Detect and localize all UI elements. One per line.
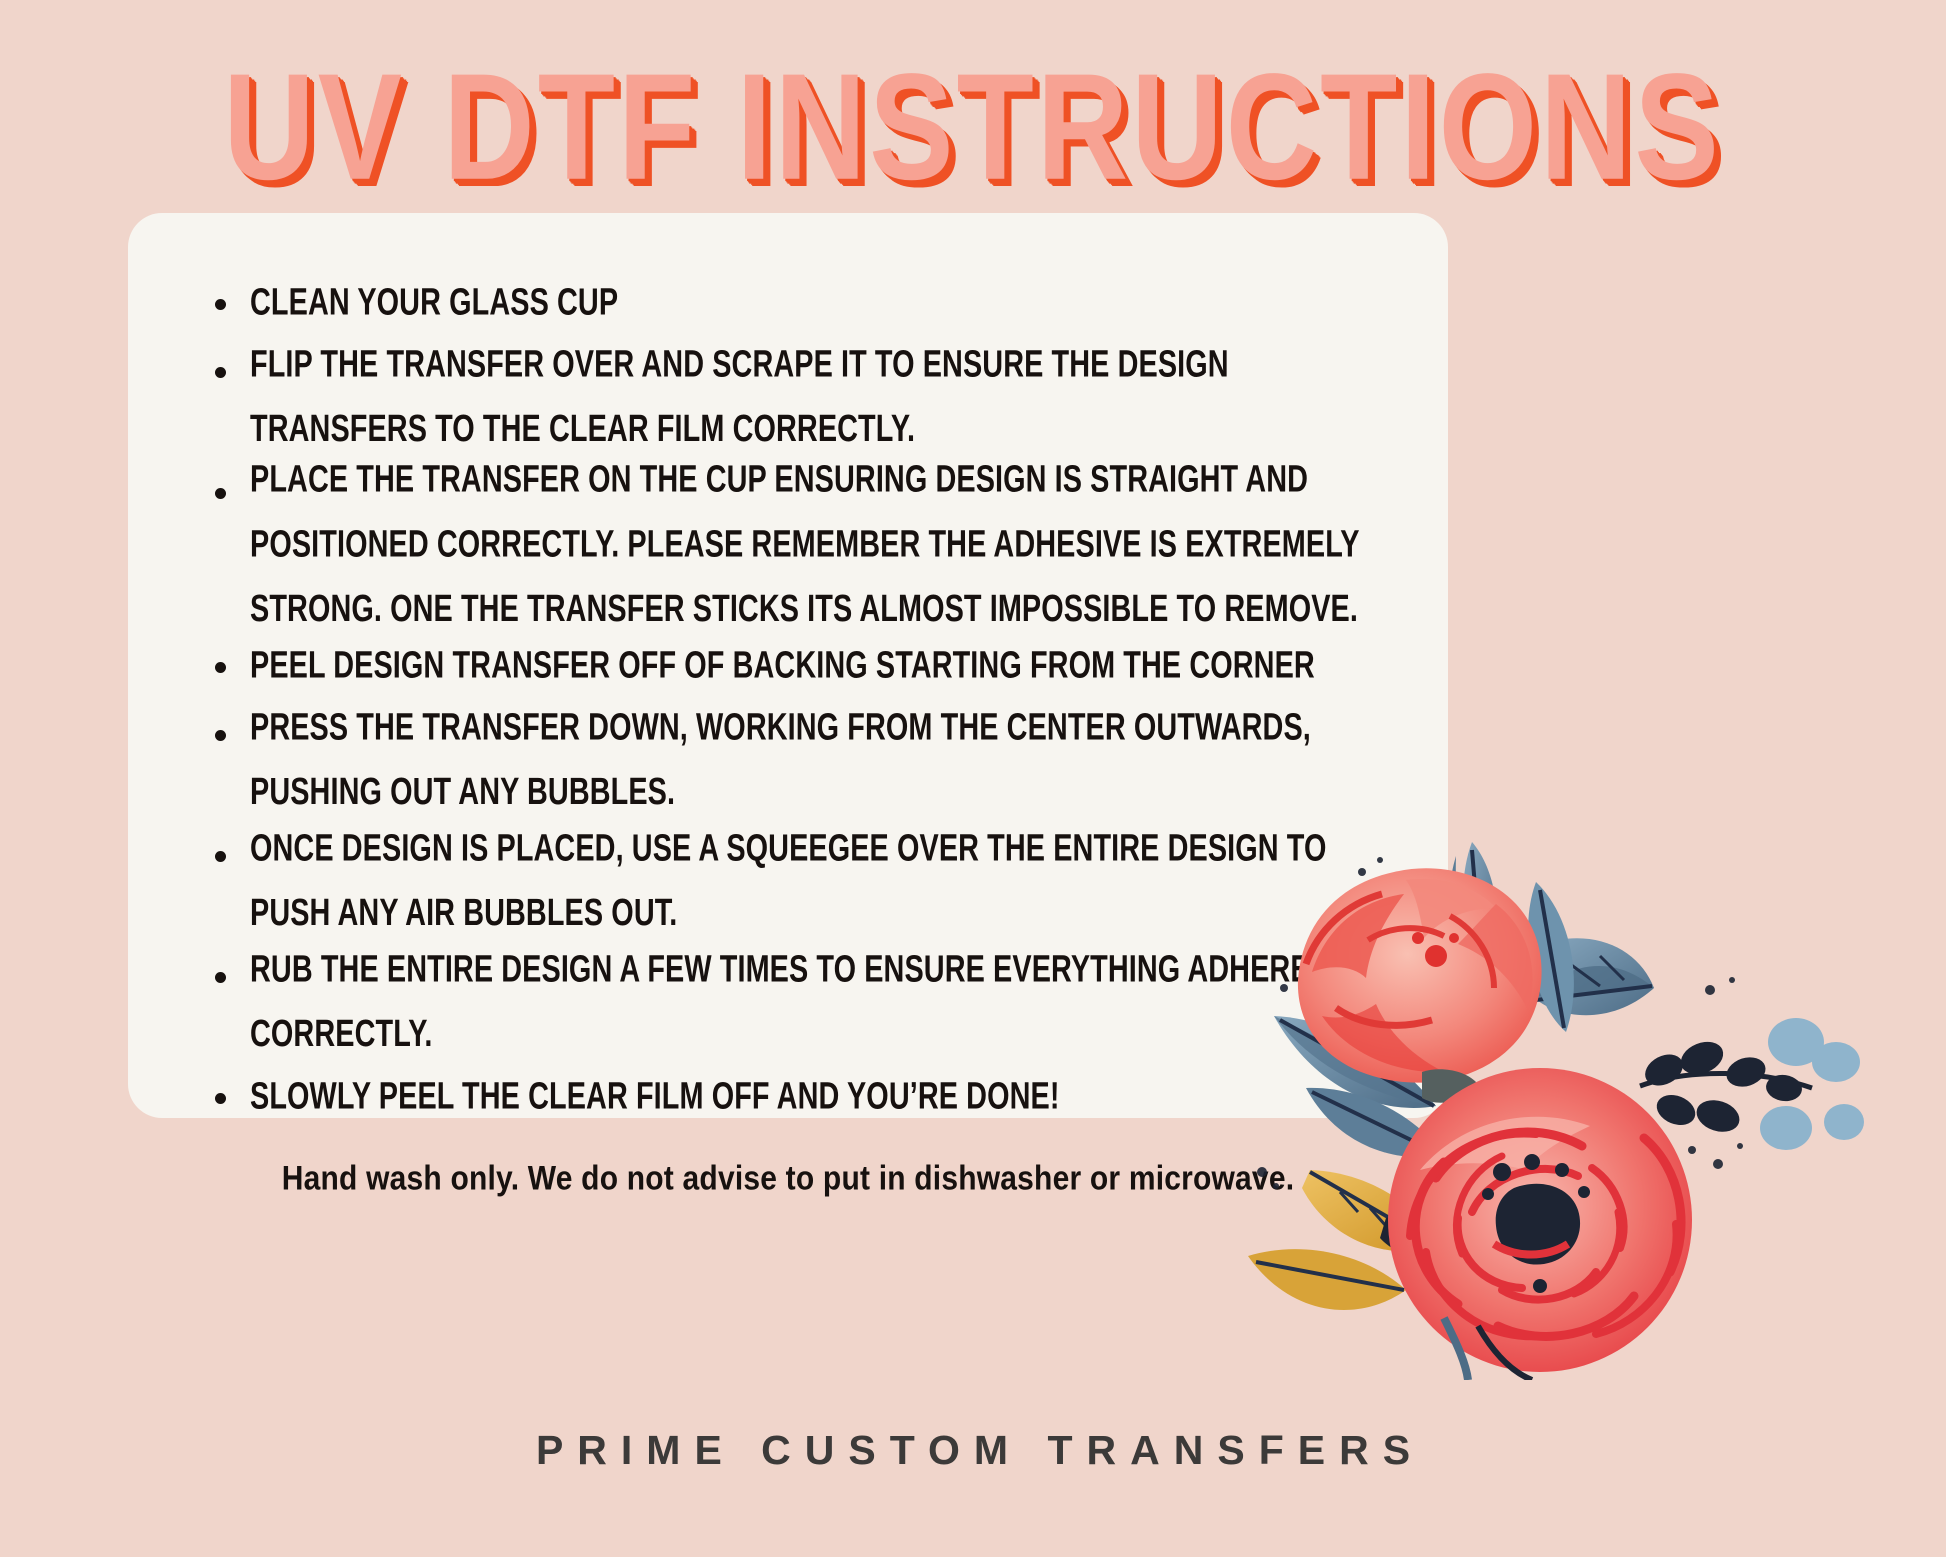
list-item: PLACE THE TRANSFER ON THE CUP ENSURING D… bbox=[188, 464, 1388, 623]
leaf-blue-upper-right bbox=[1532, 938, 1654, 1015]
care-note: Hand wash only. We do not advise to put … bbox=[188, 1162, 1388, 1196]
list-item: PRESS THE TRANSFER DOWN, WORKING FROM TH… bbox=[188, 706, 1388, 812]
step-text: PLACE THE TRANSFER ON THE CUP ENSURING D… bbox=[250, 447, 1388, 641]
step-text: ONCE DESIGN IS PLACED, USE A SQUEEGEE OV… bbox=[250, 815, 1388, 944]
instructions-card: CLEAN YOUR GLASS CUP FLIP THE TRANSFER O… bbox=[128, 213, 1448, 1118]
leaf-gold-bottom bbox=[1248, 1249, 1406, 1310]
step-text: FLIP THE TRANSFER OVER AND SCRAPE IT TO … bbox=[250, 331, 1388, 460]
flower-rose-main bbox=[1388, 1068, 1692, 1372]
stems-bottom bbox=[1444, 1318, 1532, 1380]
step-text: SLOWLY PEEL THE CLEAR FILM OFF AND YOU’R… bbox=[250, 1063, 1388, 1128]
eucalyptus-sprig-navy bbox=[1640, 1018, 1864, 1150]
page-title: UV DTF INSTRUCTIONS bbox=[224, 36, 1723, 219]
list-item: SLOWLY PEEL THE CLEAR FILM OFF AND YOU’R… bbox=[188, 1069, 1388, 1122]
step-text: PEEL DESIGN TRANSFER OFF OF BACKING STAR… bbox=[250, 632, 1388, 697]
page-title-wrapper: UV DTF INSTRUCTIONS bbox=[0, 36, 1946, 186]
leaf-blue-mid-right bbox=[1528, 882, 1574, 1032]
step-text: CLEAN YOUR GLASS CUP bbox=[250, 269, 1388, 334]
instruction-steps-list: CLEAN YOUR GLASS CUP FLIP THE TRANSFER O… bbox=[188, 275, 1388, 1122]
list-item: ONCE DESIGN IS PLACED, USE A SQUEEGEE OV… bbox=[188, 827, 1388, 933]
list-item: FLIP THE TRANSFER OVER AND SCRAPE IT TO … bbox=[188, 343, 1388, 449]
brand-footer: PRIME CUSTOM TRANSFERS bbox=[0, 1427, 1946, 1474]
step-text: RUB THE ENTIRE DESIGN A FEW TIMES TO ENS… bbox=[250, 936, 1388, 1065]
list-item: RUB THE ENTIRE DESIGN A FEW TIMES TO ENS… bbox=[188, 948, 1388, 1054]
list-item: CLEAN YOUR GLASS CUP bbox=[188, 275, 1388, 328]
list-item: PEEL DESIGN TRANSFER OFF OF BACKING STAR… bbox=[188, 638, 1388, 691]
step-text: PRESS THE TRANSFER DOWN, WORKING FROM TH… bbox=[250, 694, 1388, 823]
care-note-text: Hand wash only. We do not advise to put … bbox=[282, 1159, 1294, 1198]
leaf-navy-bottom bbox=[1380, 1213, 1498, 1291]
leaf-blue-top bbox=[1449, 842, 1497, 988]
